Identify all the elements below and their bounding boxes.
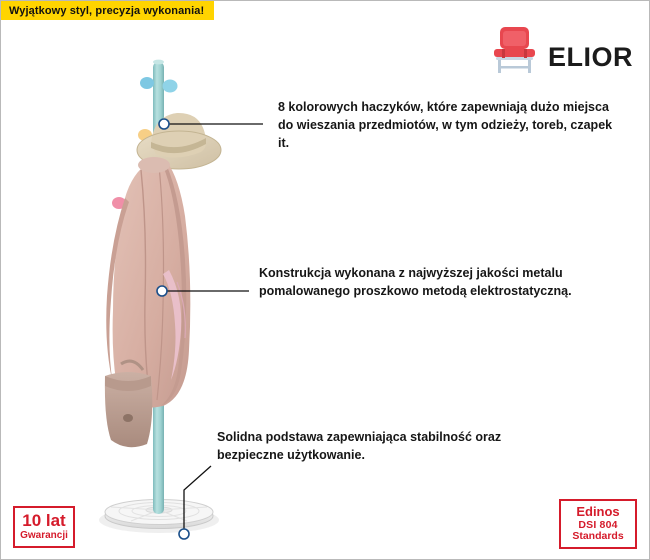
certificate-name: Edinos [576,505,619,519]
promo-banner: Wyjątkowy styl, precyzja wykonania! [1,1,214,20]
product-infographic: Wyjątkowy styl, precyzja wykonania! ELIO… [0,0,650,560]
chair-icon [488,25,542,75]
certificate-badge: Edinos DSI 804 Standards [559,499,637,549]
promo-banner-text: Wyjątkowy styl, precyzja wykonania! [9,5,204,17]
certificate-standards: Standards [572,531,623,543]
guarantee-years: 10 lat [22,512,65,529]
guarantee-badge: 10 lat Gwarancji [13,506,75,548]
callout-hooks: 8 kolorowych haczyków, które zapewniają … [278,99,618,152]
callout-construction: Konstrukcja wykonana z najwyższej jakośc… [259,265,614,301]
callout-base: Solidna podstawa zapewniająca stabilność… [217,429,547,465]
brand-logo: ELIOR [488,25,633,75]
guarantee-label: Gwarancji [20,530,68,542]
brand-name: ELIOR [548,44,633,75]
